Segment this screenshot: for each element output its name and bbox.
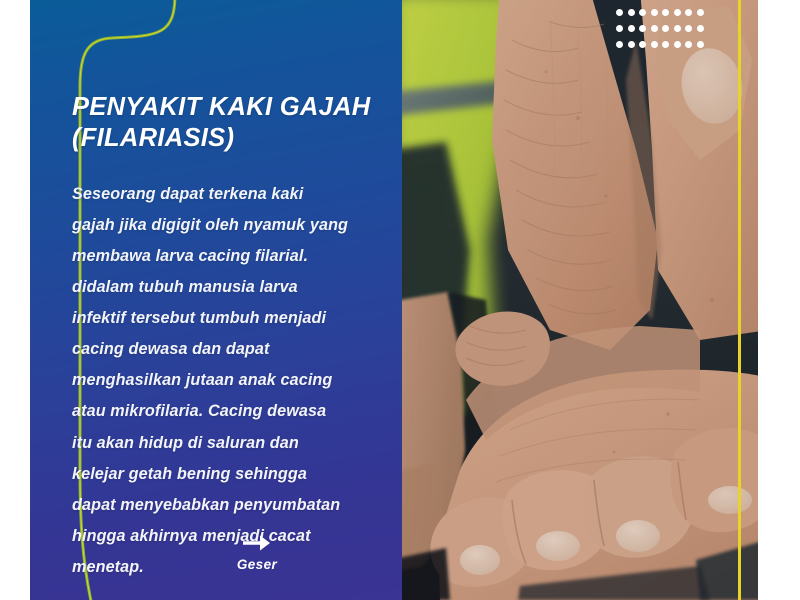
body-line: itu akan hidup di saluran dan [72,428,392,459]
body-line: Seseorang dapat terkena kaki [72,179,392,210]
body-line: cacing dewasa dan dapat [72,334,392,365]
body-line: didalam tubuh manusia larva [72,272,392,303]
page-title: PENYAKIT KAKI GAJAH (FILARIASIS) [72,92,392,155]
body-line: infektif tersebut tumbuh menjadi [72,303,392,334]
body-paragraph: Seseorang dapat terkena kakigajah jika d… [72,179,392,583]
arrow-right-icon [242,533,272,553]
text-panel: PENYAKIT KAKI GAJAH (FILARIASIS) Seseora… [30,0,402,600]
body-line: atau mikrofilaria. Cacing dewasa [72,396,392,427]
body-line: dapat menyebabkan penyumbatan [72,490,392,521]
body-line: membawa larva cacing filarial. [72,241,392,272]
swipe-cta-label: Geser [202,557,312,572]
yellow-vertical-line [738,0,741,600]
body-line: kelejar getah bening sehingga [72,459,392,490]
poster-canvas: PENYAKIT KAKI GAJAH (FILARIASIS) Seseora… [0,0,800,600]
title-line-1: PENYAKIT KAKI GAJAH [72,92,392,123]
disease-photo [400,0,758,600]
photo-illustration [400,0,758,600]
swipe-cta[interactable]: Geser [202,533,312,572]
title-line-2: (FILARIASIS) [72,123,392,154]
panel-content: PENYAKIT KAKI GAJAH (FILARIASIS) Seseora… [72,92,392,583]
body-line: gajah jika digigit oleh nyamuk yang [72,210,392,241]
body-line: menghasilkan jutaan anak cacing [72,365,392,396]
